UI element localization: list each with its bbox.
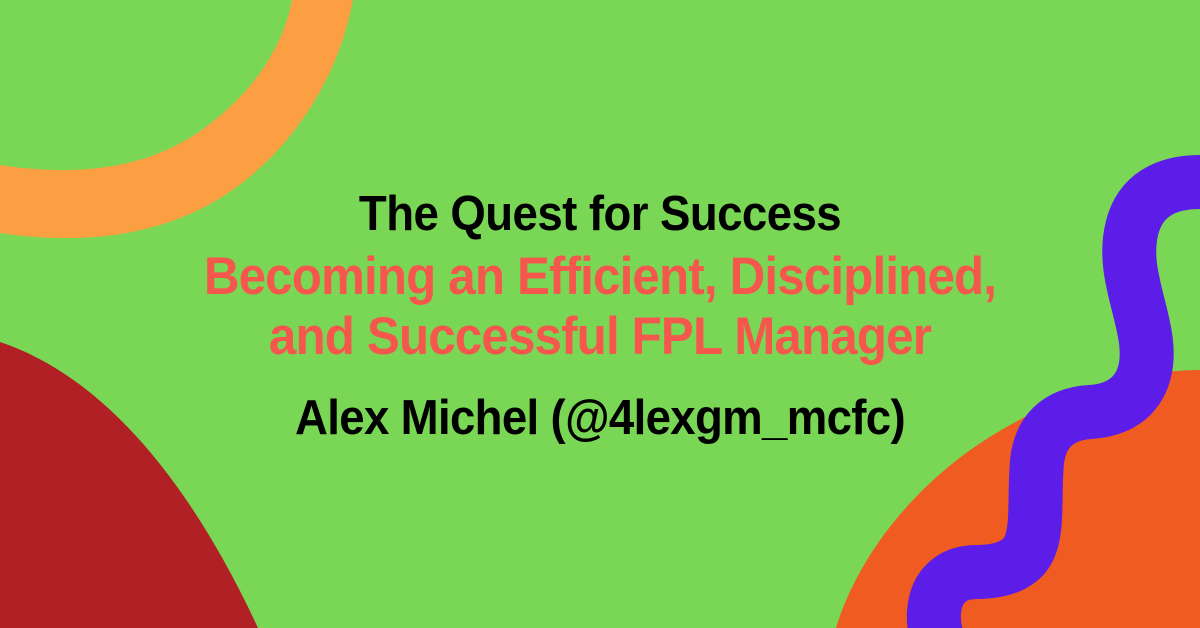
title-slide: The Quest for Success Becoming an Effici… [0, 0, 1200, 628]
decorative-background [0, 0, 1200, 628]
